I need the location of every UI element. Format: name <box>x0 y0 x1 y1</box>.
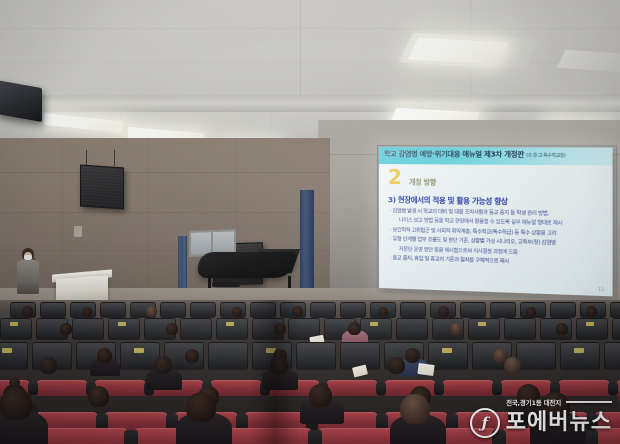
attendee-head <box>450 323 462 335</box>
attendee-head <box>504 357 521 374</box>
attendee-head <box>309 384 332 407</box>
presenter <box>16 248 40 294</box>
projection-screen: 학교 감염병 예방·위기대응 매뉴얼 제3차 개정판 (초·중·고·특수학교용)… <box>379 147 613 296</box>
seat-number-tag <box>118 322 126 326</box>
attendee-head <box>40 357 57 374</box>
slide-page-number: 13 <box>598 286 604 291</box>
seat-number-tag <box>442 348 452 353</box>
handout-paper <box>352 364 368 377</box>
ceiling-beam <box>0 96 620 112</box>
attendee-head <box>82 307 92 317</box>
grand-piano <box>198 252 296 278</box>
attendee-head <box>97 348 112 363</box>
attendee-head <box>60 323 72 335</box>
attendee-head <box>517 384 540 407</box>
seat-number-tag <box>134 348 144 353</box>
attendee-head <box>186 392 216 422</box>
slide-section-number: 2 <box>388 168 402 186</box>
ceiling-panel-light <box>408 38 508 65</box>
presenter-torso <box>17 260 39 294</box>
attendee-head <box>405 348 420 363</box>
attendee-head <box>586 306 597 317</box>
attendee-head <box>22 306 33 317</box>
attendee-head <box>185 349 199 363</box>
attendee-head <box>526 307 536 317</box>
slide-bullet-list: · 감염병 발생 시 학교의 대비 및 대응 조치사항과 등교 중지 등 학생 … <box>390 207 604 270</box>
seat-number-tag <box>574 348 584 353</box>
seat-number-tag <box>226 322 234 326</box>
attendee-head <box>388 357 405 374</box>
presentation-slide: 학교 감염병 예방·위기대응 매뉴얼 제3차 개정판 (초·중·고·특수학교용)… <box>379 147 613 296</box>
attendee-head <box>232 307 242 317</box>
handout-paper <box>417 363 434 376</box>
auditorium-photo: 학교 감염병 예방·위기대응 매뉴얼 제3차 개정판 (초·중·고·특수학교용)… <box>0 0 620 444</box>
attendee-head <box>348 322 361 335</box>
attendee-head <box>146 306 157 317</box>
attendee-head <box>378 307 388 317</box>
attendee-head <box>166 323 178 335</box>
slide-title: 학교 감염병 예방·위기대응 매뉴얼 제3차 개정판 (초·중·고·특수학교용) <box>384 149 609 160</box>
ceiling-mounted-speaker <box>0 80 42 122</box>
attendee-head <box>438 306 449 317</box>
attendee-head <box>556 323 568 335</box>
piano-bench <box>212 282 240 287</box>
attendee-head <box>0 388 32 420</box>
slide-title-main: 학교 감염병 예방·위기대응 매뉴얼 제3차 개정판 <box>384 149 524 159</box>
attendee-head <box>88 386 109 407</box>
wall-mounted-speaker <box>80 164 124 209</box>
seat-number-tag <box>478 322 486 326</box>
seat-number-tag <box>586 322 594 326</box>
slide-title-subtitle: (초·중·고·특수학교용) <box>526 154 565 159</box>
audience-seating <box>0 300 620 444</box>
left-wall <box>0 138 330 308</box>
slide-subheading: 3) 현장에서의 적용 및 활용 가능성 향상 <box>388 194 508 207</box>
stage-curtain-right <box>300 190 314 302</box>
attendee-head <box>400 394 430 424</box>
seat-number-tag <box>370 322 378 326</box>
seat-number-tag <box>2 348 12 353</box>
attendee-head <box>154 356 172 374</box>
slide-section-label: 개정 방향 <box>409 177 436 187</box>
wall-outlet <box>74 226 82 237</box>
seat-number-tag <box>10 322 18 326</box>
attendee-head <box>540 392 570 422</box>
